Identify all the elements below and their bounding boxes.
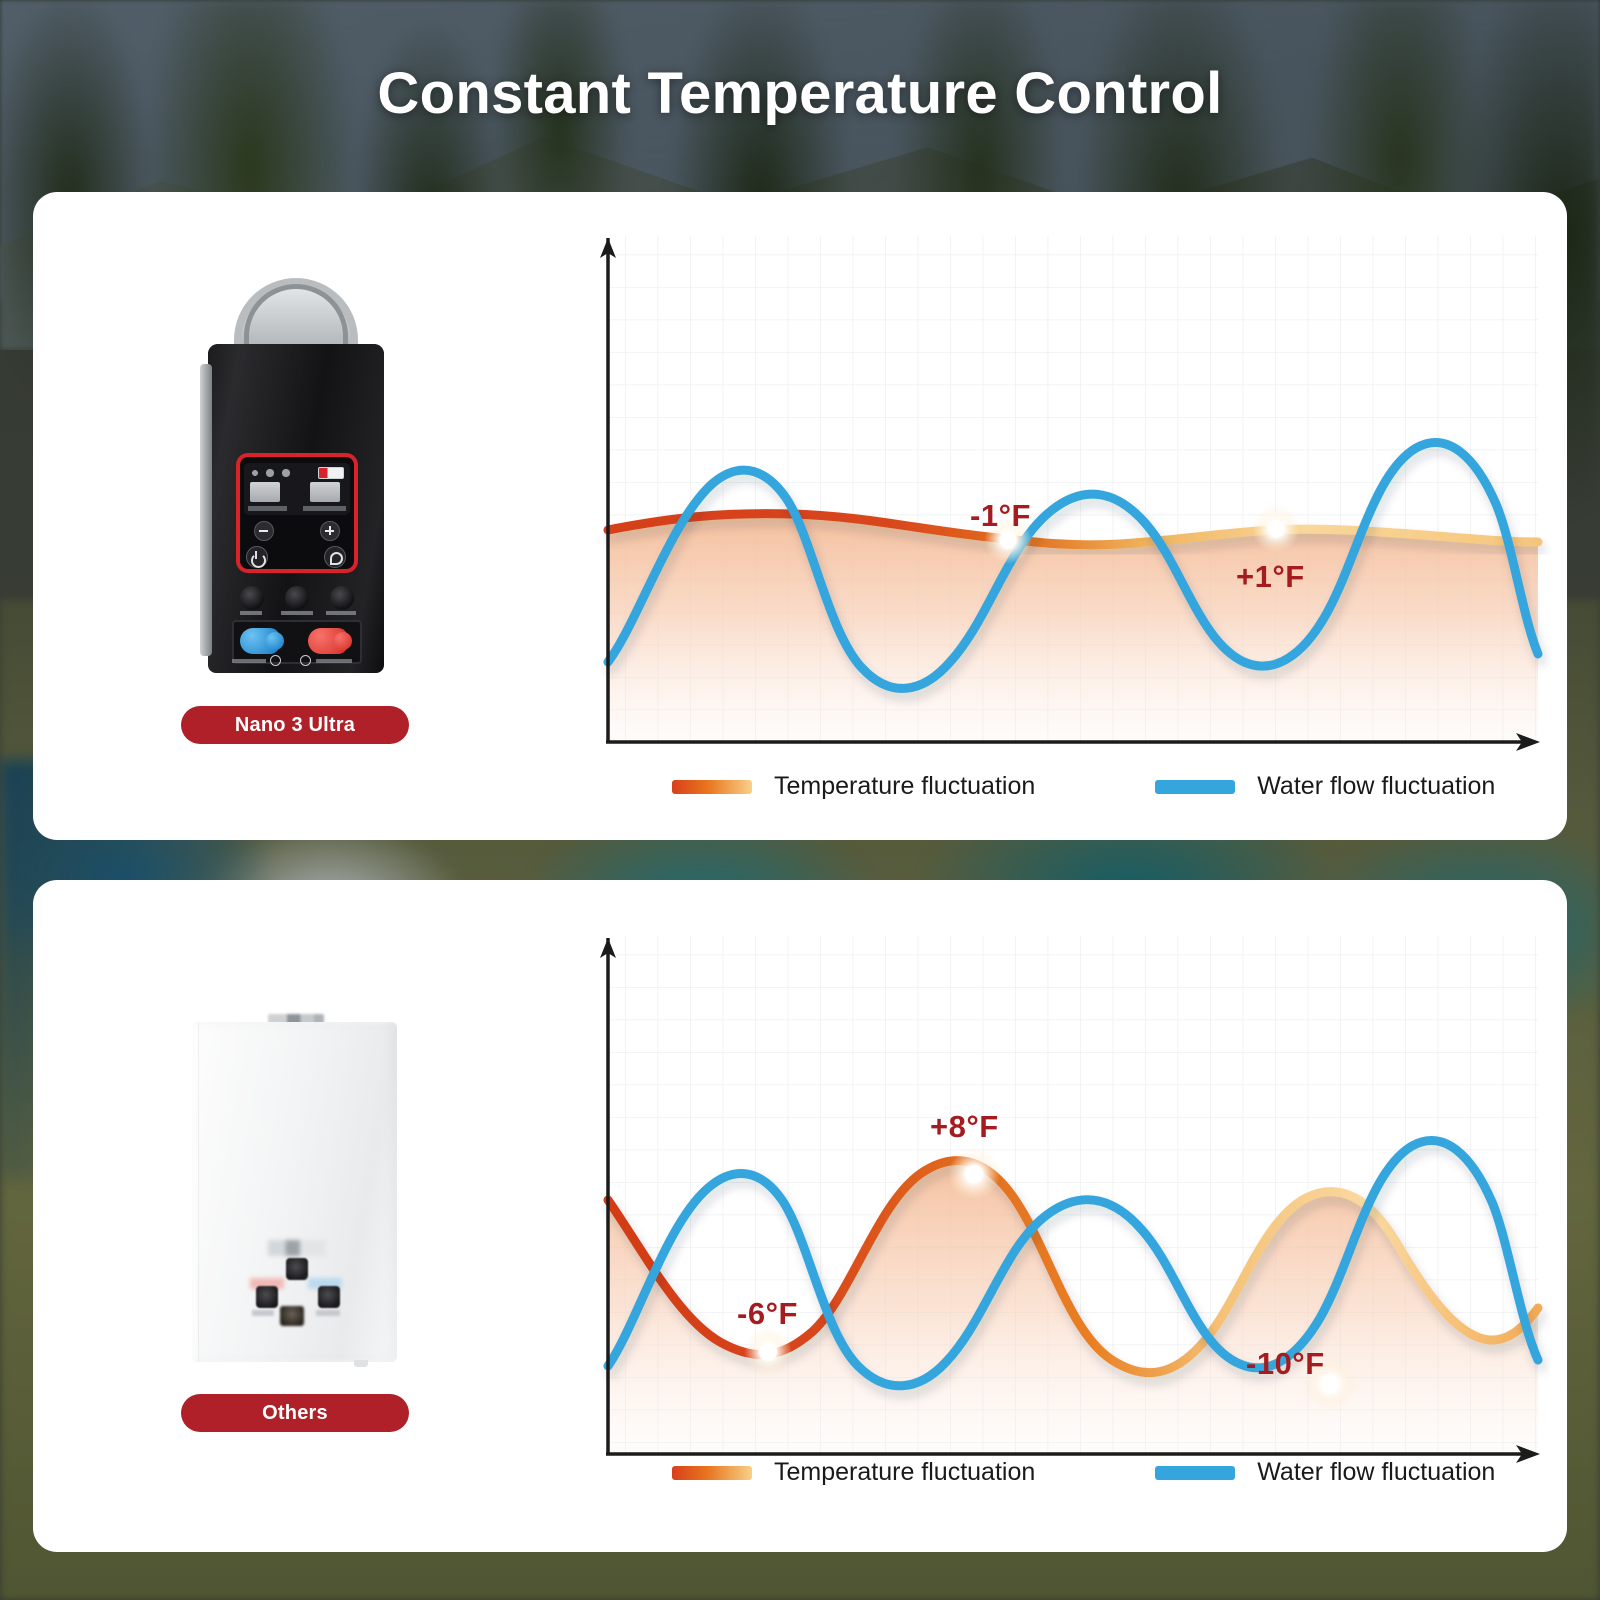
- heater-right-knob-label: [316, 1310, 340, 1316]
- dc-in-port: [330, 586, 354, 610]
- plus-button[interactable]: [320, 521, 340, 541]
- lcd-status-icons: [250, 468, 312, 479]
- legend-swatch-waterflow-icon-bottom: [1155, 1466, 1235, 1480]
- product-image-portable-heater: [196, 278, 396, 673]
- pump-port-label: [240, 611, 262, 615]
- heater-brand-blurred: [268, 1240, 326, 1256]
- minus-button[interactable]: [254, 521, 274, 541]
- chart-legend-bottom: Temperature fluctuation Water flow fluct…: [672, 1458, 1495, 1487]
- device-port-row: [236, 586, 358, 616]
- power-button[interactable]: [246, 546, 268, 568]
- chart-others: [560, 922, 1550, 1512]
- pump-port: [240, 586, 264, 610]
- heater-left-knob: [256, 1286, 278, 1308]
- legend-label-waterflow: Water flow fluctuation: [1257, 772, 1495, 801]
- legend-item-waterflow-bottom: Water flow fluctuation: [1155, 1458, 1495, 1487]
- legend-swatch-temperature-icon: [672, 780, 752, 794]
- water-inlet-label: [232, 659, 266, 663]
- fuse-port-label: [281, 611, 313, 615]
- annotation-temp-plus-8f: +8°F: [930, 1109, 999, 1145]
- battery-icon: [318, 467, 344, 479]
- product-image-wall-heater: [180, 990, 410, 1370]
- annotation-temp-minus-1f: -1°F: [970, 498, 1031, 534]
- legend-swatch-temperature-icon-bottom: [672, 1466, 752, 1480]
- product-badge-label: Nano 3 Ultra: [235, 714, 355, 737]
- heater-left-knob-label: [252, 1310, 274, 1316]
- legend-label-waterflow-bottom: Water flow fluctuation: [1257, 1458, 1495, 1487]
- chart-legend-top: Temperature fluctuation Water flow fluct…: [672, 772, 1495, 801]
- annotation-temp-plus-1f: +1°F: [1236, 559, 1305, 595]
- heater-bottom-nub: [354, 1360, 368, 1367]
- product-badge-label-others: Others: [262, 1402, 328, 1425]
- product-badge-others: Others: [181, 1394, 409, 1432]
- pump-button[interactable]: [324, 546, 346, 568]
- outlet-temp-digits: [310, 482, 340, 502]
- fuse-port: [285, 586, 309, 610]
- chart-nano-3-ultra: [560, 222, 1550, 802]
- product-badge-nano-3-ultra: Nano 3 Ultra: [181, 706, 409, 744]
- inlet-temp-digits: [250, 482, 280, 502]
- water-outlet-label: [316, 659, 352, 663]
- annotation-temp-minus-10f: -10°F: [1246, 1346, 1325, 1382]
- water-inlet-icon: [270, 655, 281, 666]
- legend-swatch-waterflow-icon: [1155, 780, 1235, 794]
- water-inlet-knob: [240, 628, 280, 654]
- heater-right-knob: [318, 1286, 340, 1308]
- page-title: Constant Temperature Control: [0, 60, 1600, 127]
- annotation-temp-minus-6f: -6°F: [737, 1296, 798, 1332]
- legend-label-temperature: Temperature fluctuation: [774, 772, 1035, 801]
- lcd-caption-row: [248, 506, 346, 511]
- water-outlet-icon: [300, 655, 311, 666]
- device-side-rail: [200, 364, 212, 656]
- legend-label-temperature-bottom: Temperature fluctuation: [774, 1458, 1035, 1487]
- legend-item-temperature-bottom: Temperature fluctuation: [672, 1458, 1035, 1487]
- dc-in-port-label: [326, 611, 356, 615]
- heater-gas-inlet: [280, 1306, 304, 1326]
- legend-item-temperature: Temperature fluctuation: [672, 772, 1035, 801]
- heater-center-control: [286, 1258, 308, 1280]
- legend-item-waterflow: Water flow fluctuation: [1155, 772, 1495, 801]
- water-outlet-knob: [308, 628, 348, 654]
